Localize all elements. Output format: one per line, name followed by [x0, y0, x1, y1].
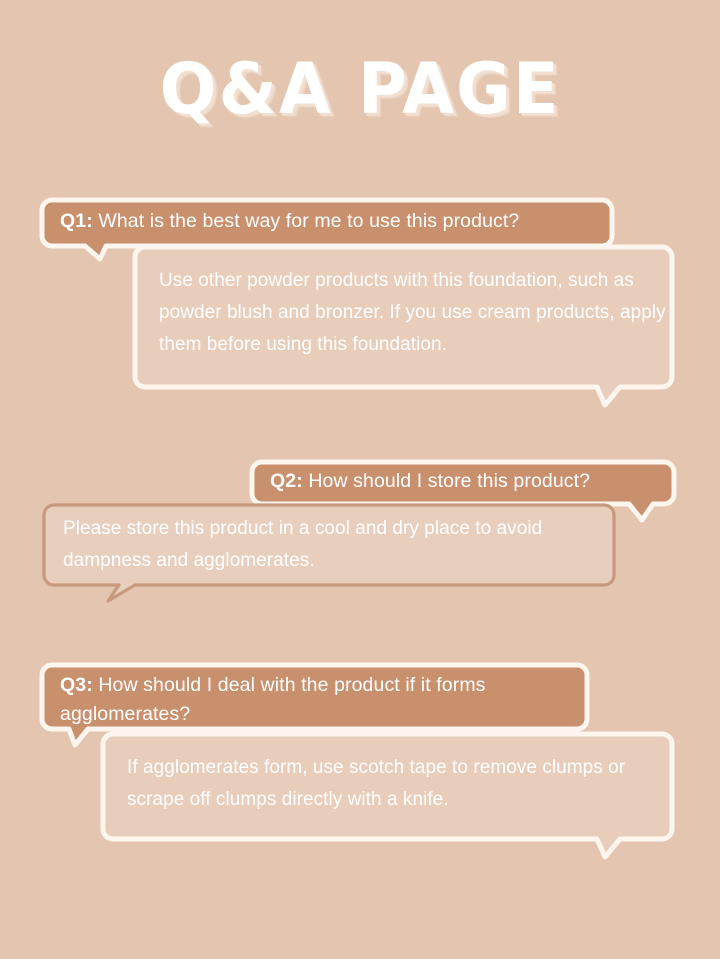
question-bubble-1: Q1: What is the best way for me to use t…	[38, 196, 616, 250]
question-text-1: What is the best way for me to use this …	[98, 210, 519, 232]
answer-bubble-3-text: If agglomerates form, use scotch tape to…	[127, 752, 657, 816]
question-label-1: Q1:	[60, 210, 98, 232]
answer-bubble-2-text: Please store this product in a cool and …	[63, 513, 613, 577]
question-bubble-3: Q3: How should I deal with the product i…	[38, 661, 591, 733]
answer-bubble-1-text: Use other powder products with this foun…	[159, 265, 669, 361]
answer-bubble-1: Use other powder products with this foun…	[131, 243, 680, 395]
page-title: Q&A PAGE	[160, 50, 561, 128]
question-label-3: Q3:	[60, 674, 98, 696]
question-bubble-1-text: Q1: What is the best way for me to use t…	[60, 207, 620, 236]
page-title-container: Q&A PAGE	[0, 50, 720, 128]
question-text-2: How should I store this product?	[308, 470, 590, 492]
question-bubble-2-text: Q2: How should I store this product?	[270, 467, 680, 496]
answer-bubble-3: If agglomerates form, use scotch tape to…	[99, 730, 680, 847]
qa-page: Q&A PAGE Q1: What is the best way for me…	[0, 0, 720, 959]
question-bubble-3-text: Q3: How should I deal with the product i…	[60, 671, 600, 729]
question-text-3: How should I deal with the product if it…	[60, 674, 486, 725]
answer-bubble-2: Please store this product in a cool and …	[40, 501, 618, 593]
question-label-2: Q2:	[270, 470, 308, 492]
